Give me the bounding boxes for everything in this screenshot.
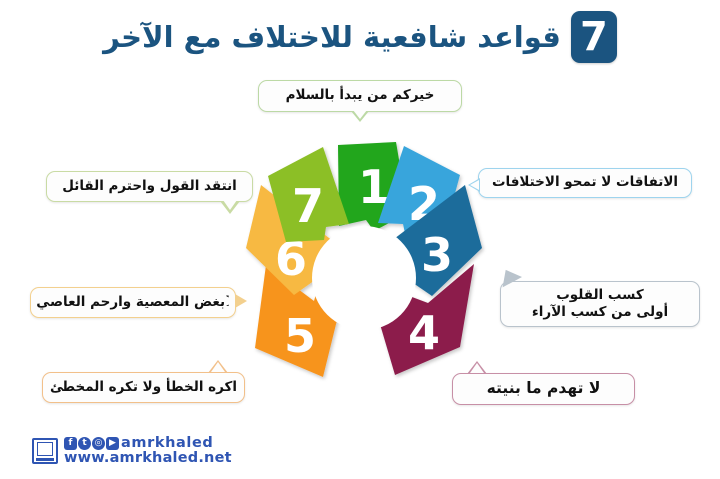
callout-2-text: الاتفاقات لا تمحو الاختلافات <box>492 174 678 191</box>
social-row: f t ◎ ▶ amrkhaled <box>64 436 232 451</box>
wheel-segment-3-number: 3 <box>421 228 453 282</box>
twitter-icon[interactable]: t <box>78 437 91 450</box>
facebook-icon[interactable]: f <box>64 437 77 450</box>
instagram-icon[interactable]: ◎ <box>92 437 105 450</box>
callout-7-tail <box>220 201 240 214</box>
callout-5-text: اكره الخطأ ولا تكره المخطئ <box>50 379 237 396</box>
footer-text-block: f t ◎ ▶ amrkhaled www.amrkhaled.net <box>64 436 232 466</box>
callout-6-tail <box>235 294 247 308</box>
infographic-canvas: 7 قواعد شافعية للاختلاف مع الآخر 1 2 <box>0 0 720 479</box>
callout-4[interactable]: لا تهدم ما بنيته <box>452 373 635 405</box>
callout-3-text-line2: أولى من كسب الآراء <box>532 304 668 321</box>
wheel-segment-5-number: 5 <box>284 309 316 363</box>
callout-5[interactable]: اكره الخطأ ولا تكره المخطئ <box>42 372 245 403</box>
callout-6[interactable]: ابغض المعصية وارحم العاصي <box>30 287 236 318</box>
logo-bottom-bar <box>36 458 54 461</box>
youtube-icon[interactable]: ▶ <box>106 437 119 450</box>
callout-7[interactable]: انتقد القول واحترم القائل <box>46 171 253 202</box>
callout-1-text: خيركم من يبدأ بالسلام <box>286 87 435 104</box>
social-handle[interactable]: amrkhaled <box>121 436 213 451</box>
callout-5-tail <box>208 360 228 373</box>
website-url[interactable]: www.amrkhaled.net <box>64 451 232 466</box>
callout-4-tail <box>467 361 487 374</box>
callout-2-tail <box>468 178 480 192</box>
page-title: قواعد شافعية للاختلاف مع الآخر <box>103 20 561 54</box>
logo-inner-frame <box>37 442 53 456</box>
wheel-segment-7-number: 7 <box>292 179 324 233</box>
callout-2[interactable]: الاتفاقات لا تمحو الاختلافات <box>478 168 692 198</box>
callout-7-text: انتقد القول واحترم القائل <box>62 178 237 195</box>
page-header: 7 قواعد شافعية للاختلاف مع الآخر <box>0 6 720 68</box>
wheel-segment-4-number: 4 <box>408 306 440 360</box>
seven-rules-wheel: 1 2 3 4 <box>228 128 500 390</box>
callout-3[interactable]: كسب القلوب أولى من كسب الآراء <box>500 281 700 327</box>
callout-6-text: ابغض المعصية وارحم العاصي <box>36 294 229 311</box>
callout-3-text-line1: كسب القلوب <box>556 287 644 304</box>
wheel-center-hole <box>312 226 416 330</box>
callout-1[interactable]: خيركم من يبدأ بالسلام <box>258 80 462 112</box>
callout-1-tail <box>351 111 369 122</box>
footer: f t ◎ ▶ amrkhaled www.amrkhaled.net <box>32 436 232 466</box>
count-badge: 7 <box>571 11 617 63</box>
callout-4-text: لا تهدم ما بنيته <box>487 379 601 399</box>
amrkhaled-logo <box>32 438 58 464</box>
